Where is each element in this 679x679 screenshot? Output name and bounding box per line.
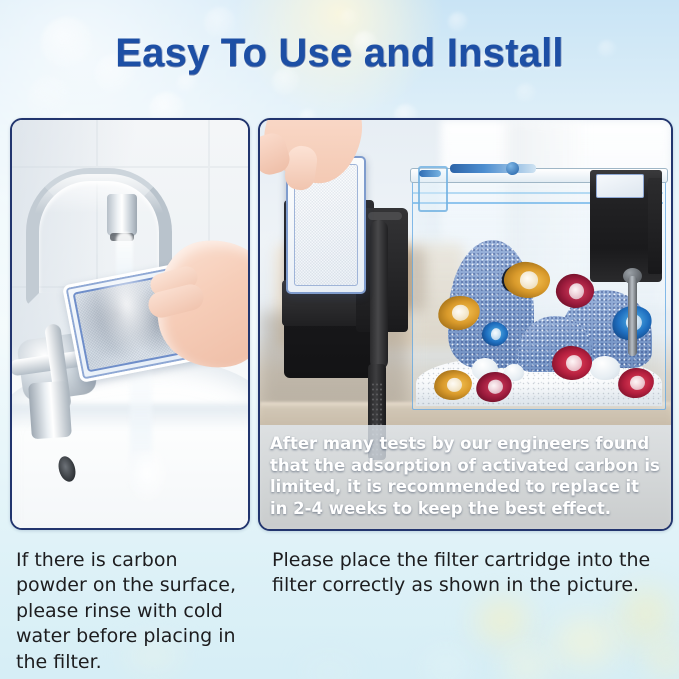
betta-fish-gold-1 xyxy=(436,293,482,333)
betta-fish-gold-3 xyxy=(433,369,473,402)
water-splash xyxy=(124,450,170,506)
page-title: Easy To Use and Install xyxy=(0,31,679,76)
install-filter-panel: After many tests by our engineers found … xyxy=(258,118,673,531)
betta-fish-red-1 xyxy=(551,345,593,382)
caption-install: Please place the filter cartridge into t… xyxy=(272,548,672,599)
faucet-stem xyxy=(28,381,72,440)
filter-vent xyxy=(368,212,402,220)
tank-filter-cartridge xyxy=(596,174,644,198)
caption-rinse: If there is carbon powder on the surface… xyxy=(16,548,248,675)
rinse-filter-photo xyxy=(12,120,248,528)
betta-fish-gold-2 xyxy=(502,260,552,301)
install-filter-photo: After many tests by our engineers found … xyxy=(260,120,671,529)
rinse-filter-panel xyxy=(10,118,250,530)
tank-filter-side-panel xyxy=(648,178,662,274)
filter-intake-tube xyxy=(370,220,388,370)
tank-light-knob xyxy=(506,162,519,175)
overlay-note: After many tests by our engineers found … xyxy=(260,425,671,529)
tank-light-bar xyxy=(450,164,536,173)
betta-fish-crimson-2 xyxy=(474,369,515,405)
tank-filter-intake-tube xyxy=(628,276,637,356)
shell-decor-3 xyxy=(590,356,620,380)
tank-hose xyxy=(419,170,441,177)
betta-fish-red-2 xyxy=(617,366,656,400)
faucet-aerator xyxy=(107,194,137,236)
betta-fish-blue-2 xyxy=(480,320,509,347)
